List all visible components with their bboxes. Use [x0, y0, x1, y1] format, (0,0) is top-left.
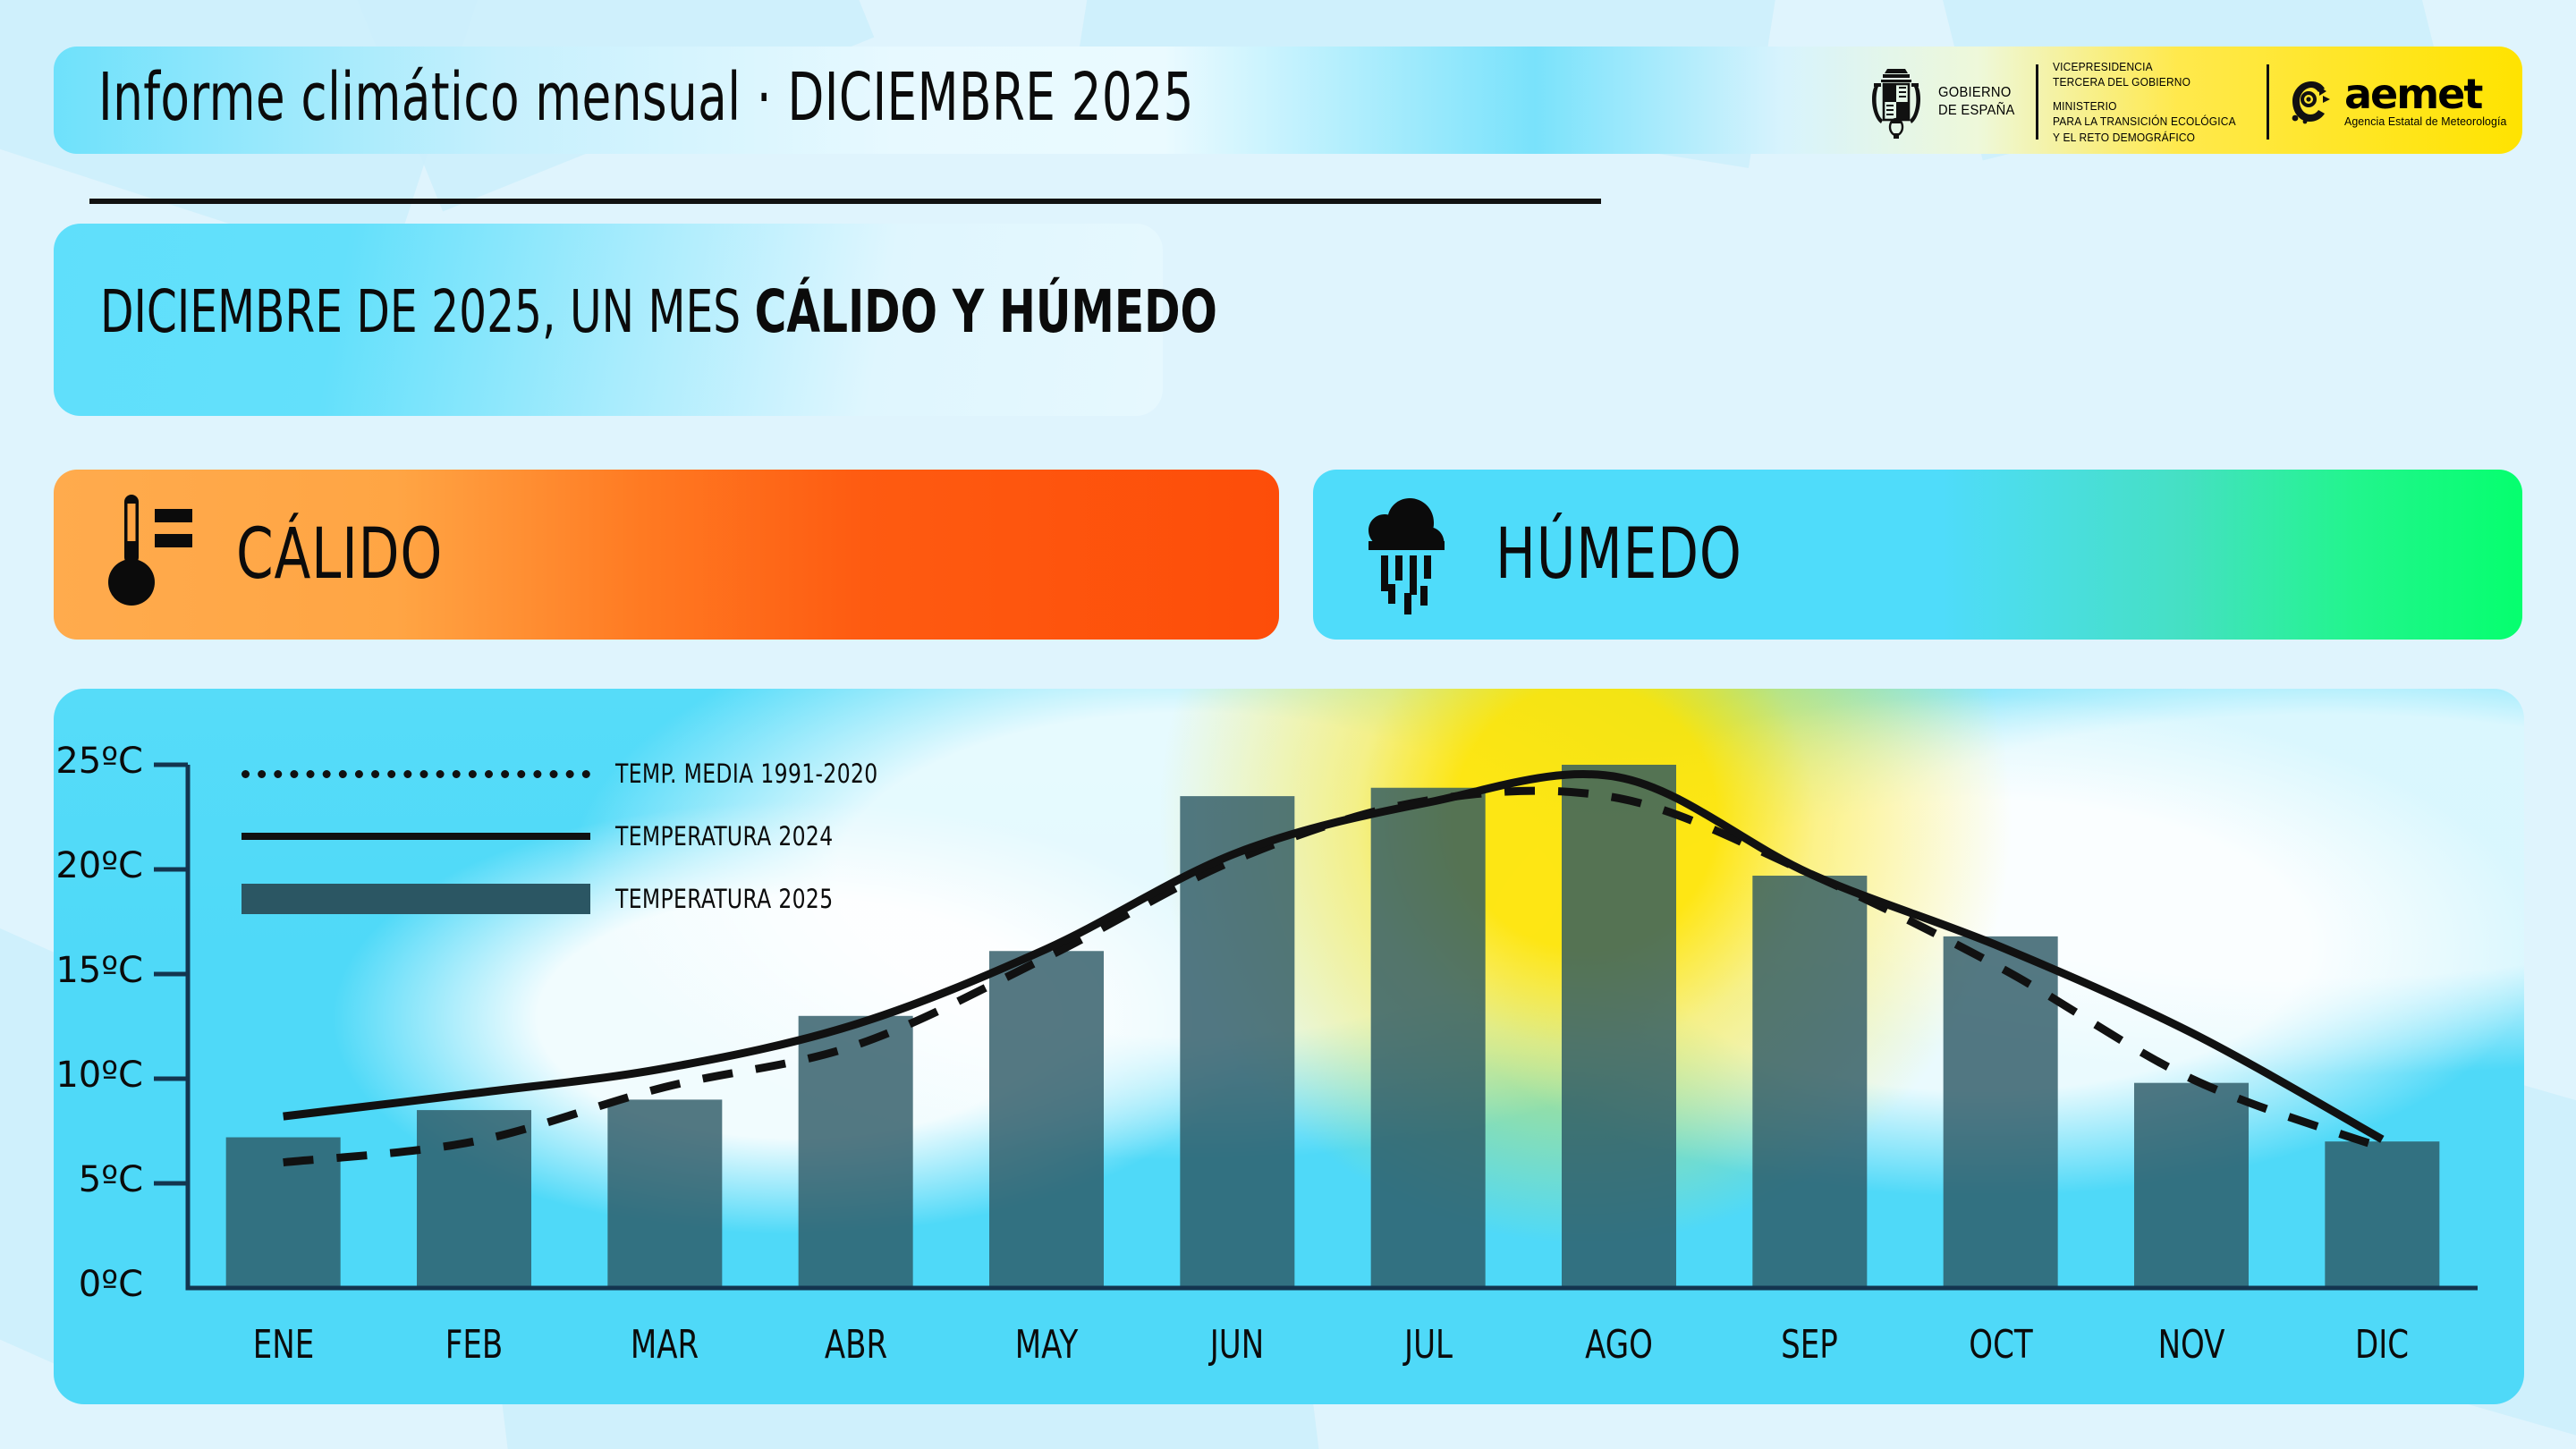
- x-axis-month-label: OCT: [1924, 1322, 2078, 1368]
- ministry-label: VICEPRESIDENCIA TERCERA DEL GOBIERNO MIN…: [2053, 59, 2236, 146]
- x-axis-month-label: JUL: [1352, 1322, 1505, 1368]
- legend-label: TEMP. MEDIA 1991-2020: [615, 758, 878, 789]
- x-axis-month-label: NOV: [2114, 1322, 2268, 1368]
- x-axis-month-label: FEB: [397, 1322, 551, 1368]
- x-axis-month-label: DIC: [2305, 1322, 2459, 1368]
- legend-item: TEMP. MEDIA 1991-2020: [241, 751, 907, 796]
- subtitle-strong: CÁLIDO Y HÚMEDO: [755, 277, 1217, 346]
- x-axis-month-label: AGO: [1542, 1322, 1696, 1368]
- institutional-logo: GOBIERNODE ESPAÑA VICEPRESIDENCIA TERCER…: [1863, 54, 2515, 150]
- x-axis-month-label: MAY: [970, 1322, 1123, 1368]
- status-badge-warm: CÁLIDO: [54, 470, 1279, 640]
- badge-label-wet: HÚMEDO: [1496, 514, 1742, 595]
- badge-label-warm: CÁLIDO: [236, 514, 443, 595]
- x-axis-month-label: SEP: [1733, 1322, 1886, 1368]
- legend-key-dotted: [241, 758, 590, 789]
- logo-divider: [2267, 64, 2269, 140]
- subtitle-normal: DICIEMBRE DE 2025, UN MES: [100, 277, 755, 346]
- x-axis-month-label: ABR: [779, 1322, 933, 1368]
- chart-bar: [2134, 1083, 2249, 1288]
- legend-key-solid: [241, 821, 590, 852]
- legend-key-bar: [241, 884, 590, 914]
- aemet-swirl-icon: [2284, 74, 2339, 130]
- spain-coat-of-arms-icon: [1863, 64, 1929, 140]
- chart-bar: [1944, 936, 2058, 1288]
- subtitle: DICIEMBRE DE 2025, UN MES CÁLIDO Y HÚMED…: [100, 277, 1217, 346]
- chart-bar: [607, 1099, 722, 1288]
- x-axis-month-label: ENE: [207, 1322, 360, 1368]
- legend-item: TEMPERATURA 2024: [241, 814, 907, 859]
- page-title: Informe climático mensual · DICIEMBRE 20…: [98, 59, 1194, 136]
- y-axis-tick-label: 5ºC: [9, 1159, 143, 1200]
- gobierno-label: GOBIERNODE ESPAÑA: [1938, 84, 2021, 120]
- status-badge-wet: HÚMEDO: [1313, 470, 2522, 640]
- thermometer-icon: [86, 487, 220, 622]
- x-axis-month-label: MAR: [588, 1322, 741, 1368]
- aemet-wordmark: aemet: [2344, 76, 2515, 113]
- chart-legend: TEMP. MEDIA 1991-2020 TEMPERATURA 2024 T…: [241, 751, 907, 939]
- y-axis-tick-label: 15ºC: [9, 950, 143, 991]
- y-axis-tick-label: 25ºC: [9, 741, 143, 782]
- x-axis-month-label: JUN: [1160, 1322, 1314, 1368]
- legend-label: TEMPERATURA 2024: [615, 821, 834, 852]
- logo-divider: [2036, 64, 2038, 140]
- rain-cloud-icon: [1345, 487, 1479, 622]
- chart-bar: [417, 1110, 531, 1288]
- y-axis-tick-label: 10ºC: [9, 1055, 143, 1096]
- chart-bar: [1562, 765, 1676, 1288]
- y-axis-tick-label: 0ºC: [9, 1264, 143, 1305]
- chart-bar: [2325, 1141, 2439, 1288]
- aemet-tagline: Agencia Estatal de Meteorología: [2344, 114, 2506, 128]
- legend-item: TEMPERATURA 2025: [241, 877, 907, 921]
- legend-label: TEMPERATURA 2025: [615, 884, 834, 914]
- aemet-logo: aemet Agencia Estatal de Meteorología: [2284, 74, 2515, 130]
- header-divider: [89, 199, 1601, 204]
- y-axis-tick-label: 20ºC: [9, 845, 143, 886]
- chart-bar: [989, 951, 1104, 1288]
- chart-bar: [1752, 876, 1867, 1288]
- chart-bar: [1371, 788, 1486, 1288]
